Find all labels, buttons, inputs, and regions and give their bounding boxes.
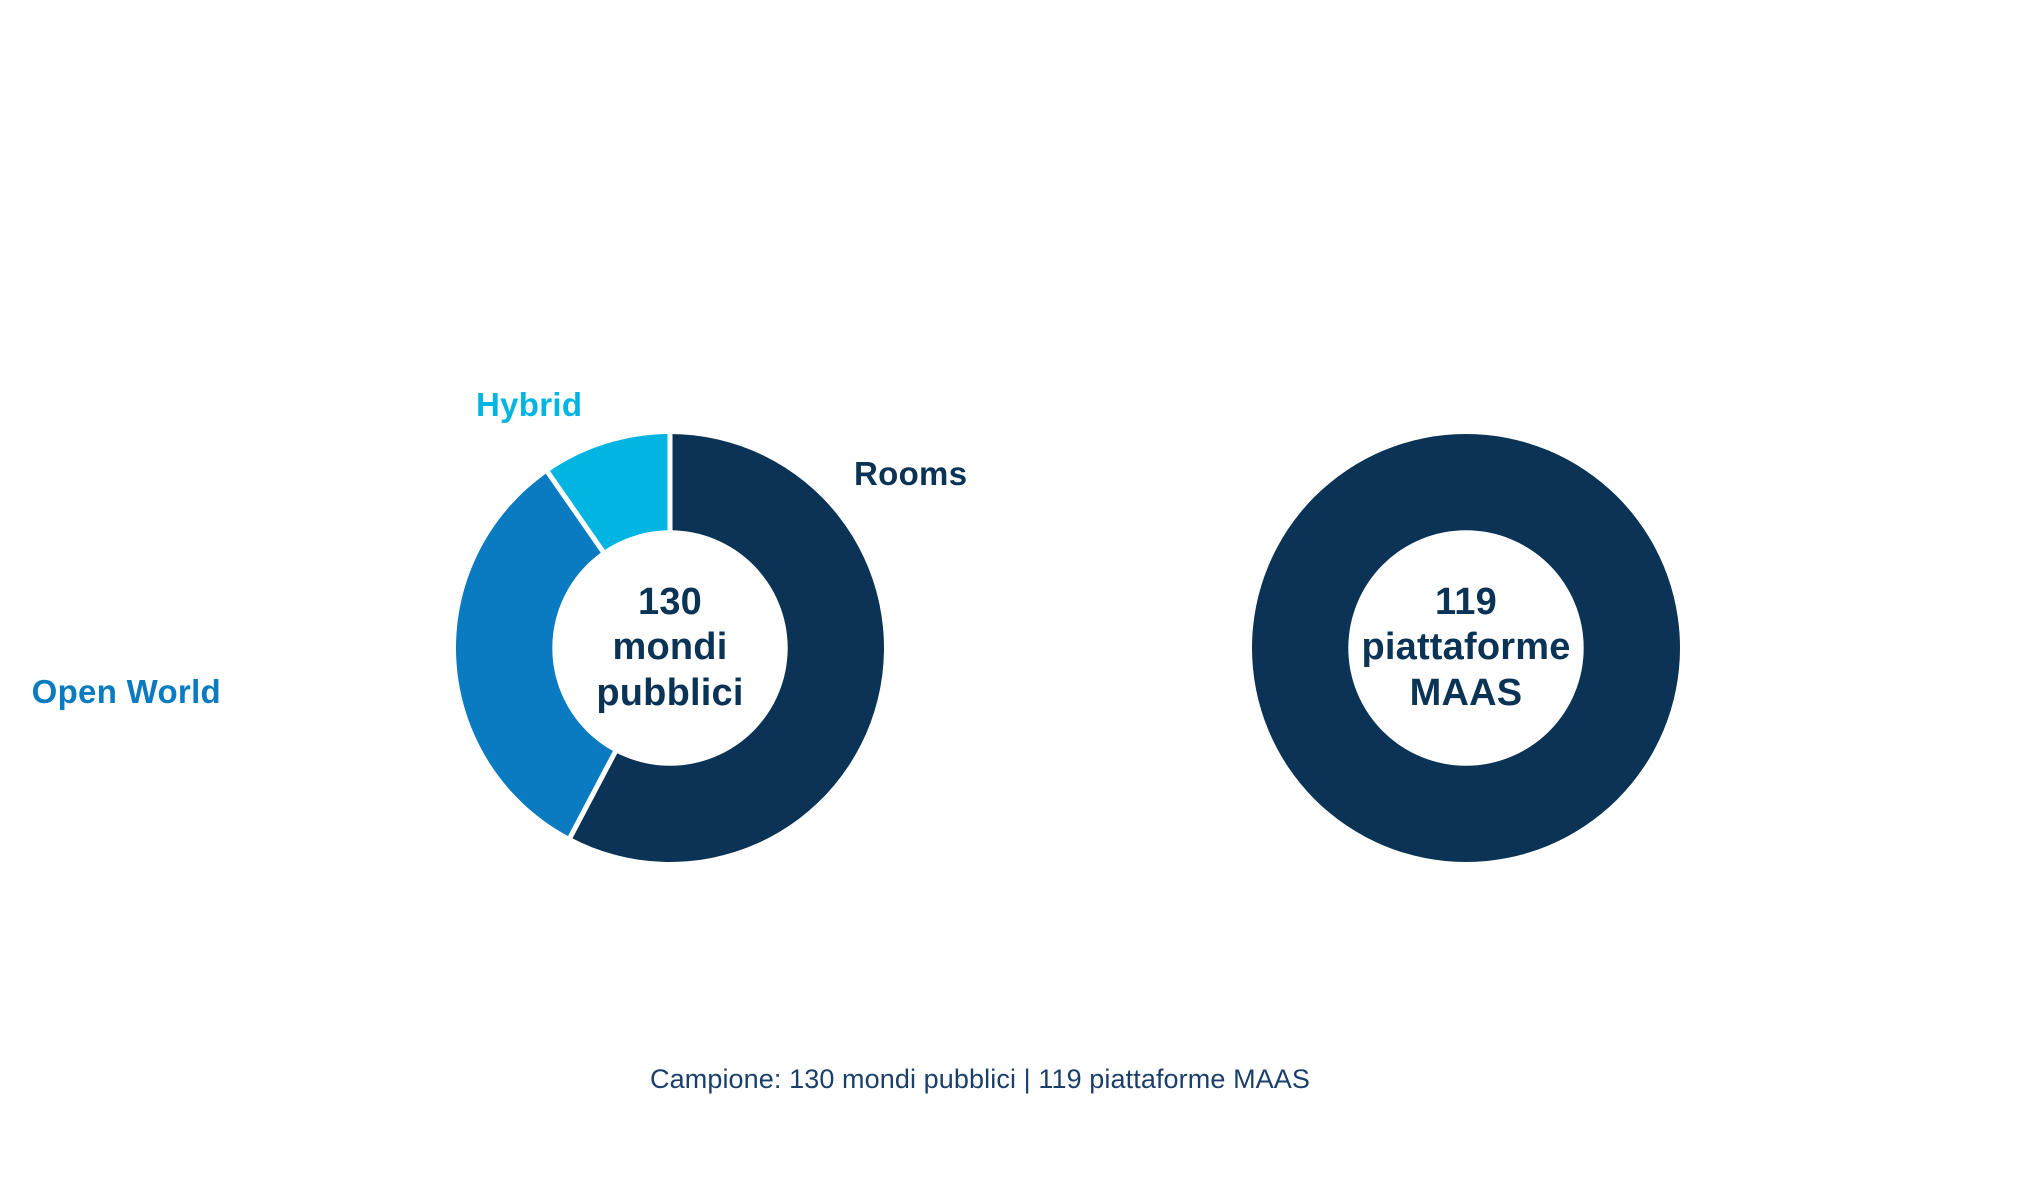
donut-hole	[1348, 530, 1583, 765]
donut-hole	[552, 530, 787, 765]
slice-label-open-world: Open World	[32, 673, 221, 711]
donut-chart-left: 130 mondi pubblici Rooms Open World Hybr…	[0, 0, 1150, 1200]
donut-right-graphic: 119 piattaforme MAAS	[1250, 432, 1682, 864]
donut-right-svg	[1250, 432, 1682, 864]
chart-caption: Campione: 130 mondi pubblici | 119 piatt…	[0, 1064, 1960, 1095]
donut-chart-right: 119 piattaforme MAAS Rooms	[1150, 0, 2040, 1200]
chart-canvas: 130 mondi pubblici Rooms Open World Hybr…	[0, 0, 2040, 1200]
slice-label-rooms-left: Rooms	[854, 455, 967, 493]
slice-label-hybrid: Hybrid	[476, 386, 582, 424]
donut-left-graphic: 130 mondi pubblici	[454, 432, 886, 864]
donut-left-svg	[454, 432, 886, 864]
